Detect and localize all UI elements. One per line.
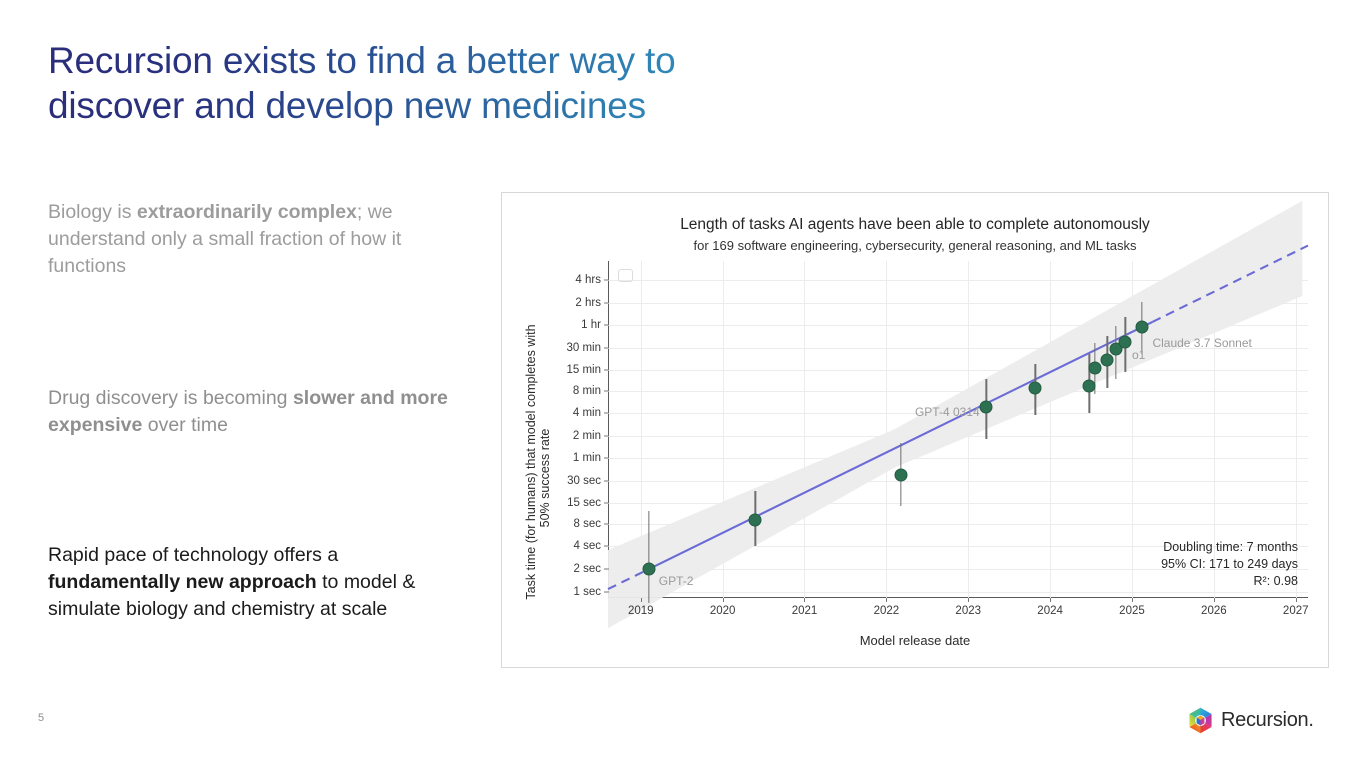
y-tick-mark [604,569,609,570]
y-tick-label: 2 min [573,430,601,442]
y-tick-label: 8 min [573,385,601,397]
annotation-label: GPT-2 [659,574,694,588]
stat-r-squared: R²: 0.98 [1161,573,1298,590]
data-point[interactable] [980,401,993,414]
y-tick-mark [604,546,609,547]
x-tick-mark [1050,598,1051,602]
y-tick-mark [604,523,609,524]
data-point[interactable] [1029,382,1042,395]
x-tick-mark [804,598,805,602]
logo-wordmark: Recursion. [1221,709,1314,732]
y-tick-mark [604,480,609,481]
x-tick-mark [723,598,724,602]
chart-title: Length of tasks AI agents have been able… [502,215,1328,235]
chart-subtitle: for 169 software engineering, cybersecur… [502,236,1328,255]
y-tick-label: 4 hrs [575,274,601,286]
y-tick-mark [604,503,609,504]
trend-line-extrapolated [608,571,645,589]
x-tick-label: 2027 [1283,605,1309,617]
y-tick-mark [604,390,609,391]
y-tick-label: 1 sec [574,586,602,598]
y-tick-mark [604,413,609,414]
x-axis-title: Model release date [502,633,1328,648]
x-tick-label: 2020 [710,605,736,617]
plot-area: GPT-2GPT-4 0314o1Claude 3.7 Sonnet 4 hrs… [608,261,1308,598]
data-point[interactable] [642,563,655,576]
data-point[interactable] [1083,379,1096,392]
x-tick-label: 2023 [955,605,981,617]
y-tick-label: 15 sec [567,497,601,509]
legend-placeholder-box[interactable] [618,269,633,282]
y-tick-mark [604,435,609,436]
chart-container: Length of tasks AI agents have been able… [501,192,1329,668]
y-tick-label: 30 min [566,342,601,354]
x-tick-mark [968,598,969,602]
y-tick-label: 4 sec [574,540,602,552]
x-tick-mark [1296,598,1297,602]
annotation-label: Claude 3.7 Sonnet [1152,336,1251,350]
chart-title-block: Length of tasks AI agents have been able… [502,215,1328,255]
annotation-label: GPT-4 0314 [915,405,980,419]
recursion-logo: Recursion. [1187,707,1314,734]
y-tick-label: 2 sec [574,563,602,575]
data-point[interactable] [1101,353,1114,366]
x-tick-label: 2024 [1037,605,1063,617]
stats-annotation: Doubling time: 7 months 95% CI: 171 to 2… [1161,539,1298,590]
y-tick-label: 8 sec [574,518,602,530]
bullet-segment-0: Rapid pace of technology offers a [48,544,338,566]
y-axis-title-line2: 50% success rate [538,293,552,663]
x-tick-mark [1132,598,1133,602]
stat-doubling-time: Doubling time: 7 months [1161,539,1298,556]
x-tick-label: 2022 [874,605,900,617]
annotation-label: o1 [1132,348,1145,362]
data-point[interactable] [895,469,908,482]
hexagon-cube-icon [1187,707,1214,734]
y-tick-mark [604,370,609,371]
bullet-segment-2: over time [142,414,228,436]
x-tick-label: 2021 [792,605,818,617]
stat-confidence-interval: 95% CI: 171 to 249 days [1161,556,1298,573]
data-point[interactable] [1089,361,1102,374]
y-tick-mark [604,302,609,303]
bullet-segment-0: Biology is [48,201,137,223]
y-tick-mark [604,280,609,281]
y-tick-label: 15 min [566,364,601,376]
data-point[interactable] [749,514,762,527]
x-tick-mark [1214,598,1215,602]
y-tick-mark [604,591,609,592]
page-title: Recursion exists to find a better way to… [48,38,848,128]
bullet-segment-0: Drug discovery is becoming [48,387,293,409]
data-point[interactable] [1119,336,1132,349]
x-tick-mark [886,598,887,602]
y-axis-title: Task time (for humans) that model comple… [510,249,552,669]
y-tick-mark [604,458,609,459]
x-tick-mark [641,598,642,602]
y-tick-label: 30 sec [567,475,601,487]
error-bar [648,511,649,603]
x-tick-label: 2019 [628,605,654,617]
bullet-segment-1: fundamentally new approach [48,571,317,593]
y-tick-mark [604,325,609,326]
y-tick-label: 4 min [573,407,601,419]
trend-line-fit [645,322,1153,571]
y-tick-mark [604,347,609,348]
x-tick-label: 2025 [1119,605,1145,617]
y-axis-title-line1: Task time (for humans) that model comple… [524,277,538,647]
y-tick-label: 1 min [573,452,601,464]
y-tick-label: 2 hrs [575,297,601,309]
bullet-drug-discovery-slower: Drug discovery is becoming slower and mo… [48,385,448,439]
bullet-new-approach: Rapid pace of technology offers a fundam… [48,542,448,623]
y-tick-label: 1 hr [581,319,601,331]
bullet-segment-1: extraordinarily complex [137,201,357,223]
page-number: 5 [38,712,44,724]
data-point[interactable] [1135,321,1148,334]
bullet-biology-complex: Biology is extraordinarily complex; we u… [48,199,448,280]
x-tick-label: 2026 [1201,605,1227,617]
